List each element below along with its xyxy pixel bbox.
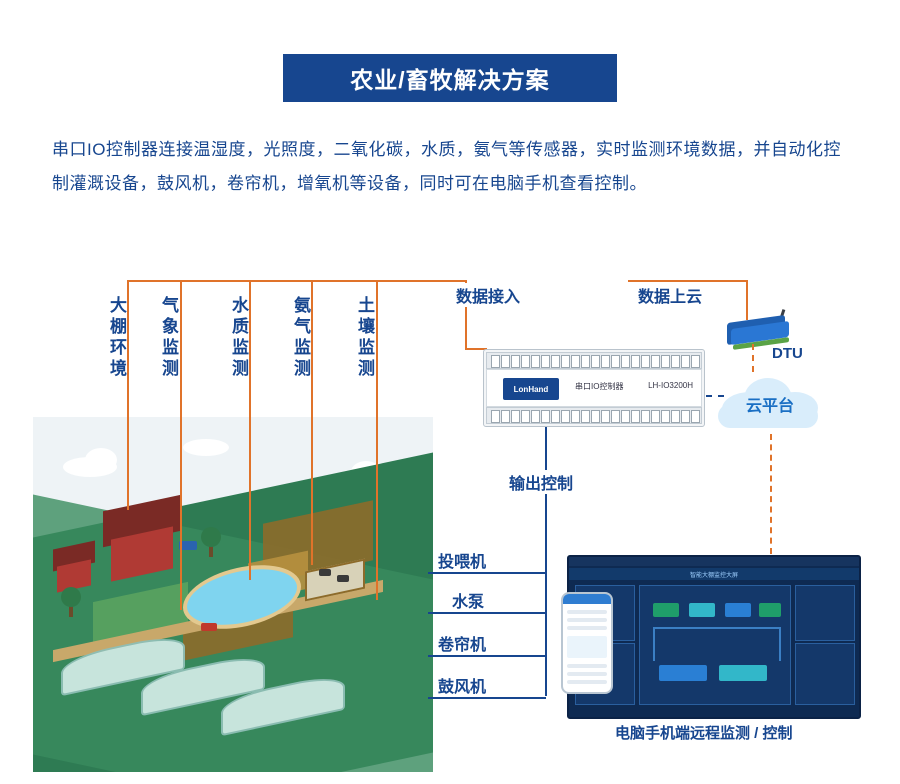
- actuator-line-pump: [428, 612, 546, 614]
- sensor-line-soil: [376, 280, 378, 600]
- farm-illustration: [33, 417, 433, 772]
- actuator-line-feeder: [428, 572, 546, 574]
- cloud-shape: [85, 448, 117, 472]
- pc-titlebar: [569, 557, 859, 566]
- label-output-control: 输出控制: [505, 470, 577, 494]
- pc-side-panel: [795, 643, 855, 705]
- label-data-cloud: 数据上云: [634, 283, 706, 307]
- phone-row: [567, 626, 607, 630]
- sensor-label-water: 水质监测: [230, 296, 247, 422]
- cloud-bus-dropline: [746, 280, 748, 320]
- pc-node: [719, 665, 767, 681]
- actuator-label-pump: 水泵: [448, 588, 488, 612]
- cloud-platform-label: 云平台: [716, 392, 824, 416]
- tree-canopy: [201, 527, 221, 547]
- actuator-line-blower: [428, 697, 546, 699]
- pc-caption: 电脑手机端远程监测 / 控制: [615, 722, 793, 743]
- pc-node: [759, 603, 781, 617]
- pc-connector: [653, 627, 781, 629]
- cloud-to-pc-line: [770, 434, 772, 554]
- cloud-platform: 云平台: [716, 372, 824, 434]
- pc-dashboard-title: 智能大棚监控大屏: [569, 568, 859, 580]
- cow: [337, 575, 349, 582]
- device-terminal-strip-bottom: [486, 407, 702, 424]
- sensor-line-weather: [180, 280, 182, 610]
- sensor-line-water: [249, 280, 251, 580]
- actuator-label-feeder: 投喂机: [434, 548, 490, 572]
- actuator-line-roller: [428, 655, 546, 657]
- sensor-label-soil: 土壤监测: [356, 296, 373, 422]
- device-brand-logo: LonHand: [503, 378, 559, 400]
- sensor-line-ammonia: [311, 280, 313, 565]
- device-model-text: LH-IO3200H: [648, 381, 693, 390]
- pc-connector: [653, 627, 655, 661]
- pc-node: [659, 665, 707, 681]
- phone-row: [567, 664, 607, 668]
- phone-chart: [567, 636, 607, 658]
- actuator-label-roller: 卷帘机: [434, 631, 490, 655]
- pc-node: [725, 603, 751, 617]
- phone-row: [567, 680, 607, 684]
- vehicle: [201, 623, 217, 631]
- cloud-bus-line: [628, 280, 748, 282]
- dtu-label: DTU: [772, 345, 803, 362]
- page-title-text: 农业/畜牧解决方案: [350, 61, 549, 95]
- mobile-app: [561, 592, 613, 694]
- pc-node: [689, 603, 715, 617]
- pc-connector: [779, 627, 781, 661]
- cow: [319, 569, 331, 576]
- intro-paragraph: 串口IO控制器连接温湿度，光照度，二氧化碳，水质，氨气等传感器，实时监测环境数据…: [52, 133, 852, 201]
- sensor-label-ammonia: 氨气监测: [292, 296, 309, 422]
- cloud-shape: [183, 439, 229, 456]
- actuator-label-blower: 鼓风机: [434, 673, 490, 697]
- sensor-bus-line: [127, 280, 467, 282]
- pc-node: [653, 603, 679, 617]
- tree-canopy: [61, 587, 81, 607]
- phone-row: [567, 618, 607, 622]
- phone-row: [567, 610, 607, 614]
- device-center-text: 串口IO控制器: [575, 381, 623, 392]
- phone-header: [563, 594, 611, 604]
- device-terminal-strip-top: [486, 352, 702, 369]
- dtu-to-cloud-line: [752, 344, 754, 372]
- page-title: 农业/畜牧解决方案: [283, 54, 617, 102]
- sensor-line-greenhouse: [127, 280, 129, 510]
- phone-row: [567, 672, 607, 676]
- sensor-label-greenhouse: 大棚环境: [108, 296, 125, 422]
- pc-side-panel: [795, 585, 855, 641]
- device-brand-text: LonHand: [514, 385, 549, 394]
- actuator-bus-line: [545, 516, 547, 696]
- sensor-label-weather: 气象监测: [160, 296, 177, 422]
- label-data-input: 数据接入: [452, 283, 524, 307]
- diagram-canvas: 农业/畜牧解决方案 串口IO控制器连接温湿度，光照度，二氧化碳，水质，氨气等传感…: [0, 0, 900, 784]
- io-controller-device: LonHand 串口IO控制器 LH-IO3200H: [483, 349, 705, 427]
- dtu-device: [727, 315, 799, 345]
